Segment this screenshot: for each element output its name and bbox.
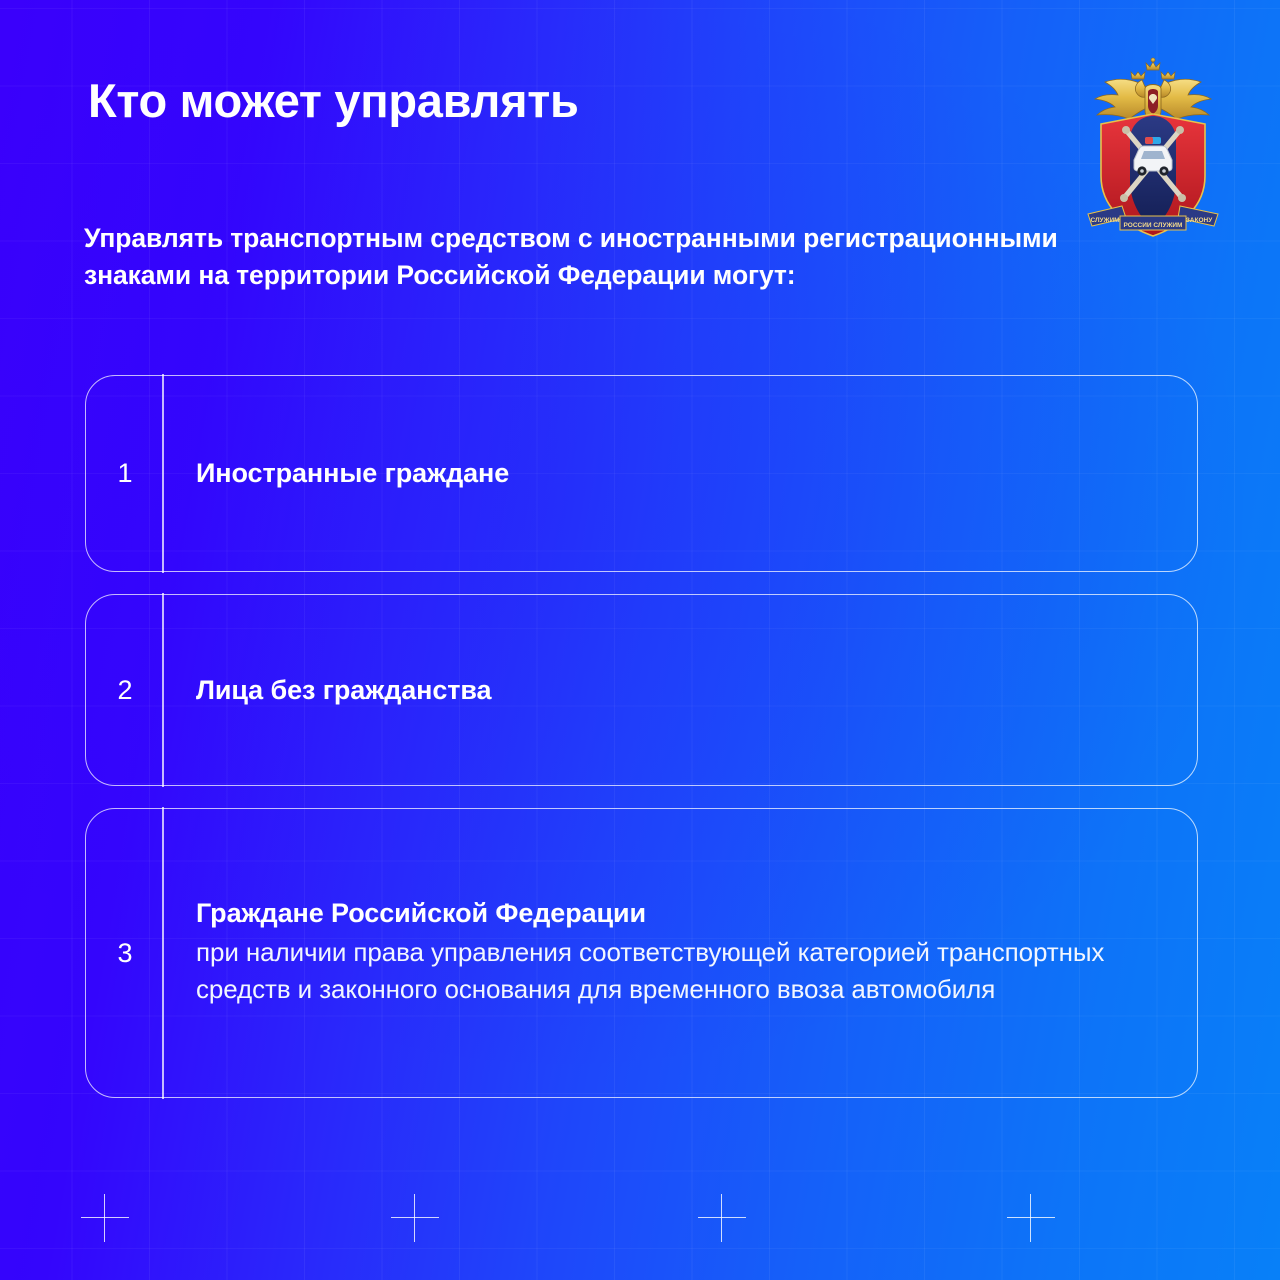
card-number-cell-2: 2	[86, 595, 164, 785]
motto-center: РОССИИ СЛУЖИМ	[1124, 222, 1183, 229]
plus-mark-horizontal	[1007, 1217, 1055, 1218]
plus-mark-vertical	[104, 1194, 105, 1242]
plus-mark-4	[1007, 1194, 1055, 1242]
card-description-3: при наличии права управления соответству…	[196, 934, 1163, 1010]
gibdd-emblem: СЛУЖИМ РОССИИ СЛУЖИМ ЗАКОНУ	[1082, 56, 1224, 242]
plus-mark-vertical	[721, 1194, 722, 1242]
card-body-2: Лица без гражданства	[164, 595, 1197, 785]
motto-right: ЗАКОНУ	[1186, 217, 1213, 224]
plus-mark-horizontal	[81, 1217, 129, 1218]
eagle-crowns	[1131, 58, 1175, 79]
plus-mark-vertical	[1030, 1194, 1031, 1242]
card-title-1: Иностранные граждане	[196, 457, 1163, 490]
list-item-3[interactable]: 3 Граждане Российской Федерации при нали…	[85, 808, 1198, 1098]
card-title-2: Лица без гражданства	[196, 674, 1163, 707]
card-body-1: Иностранные граждане	[164, 376, 1197, 571]
card-number-cell-3: 3	[86, 809, 164, 1097]
motto-left: СЛУЖИМ	[1090, 217, 1119, 224]
plus-mark-vertical	[414, 1194, 415, 1242]
plus-mark-1	[81, 1194, 129, 1242]
intro-paragraph: Управлять транспортным средством с иност…	[84, 220, 1094, 294]
card-number-1: 1	[117, 458, 132, 489]
card-title-3: Граждане Российской Федерации	[196, 897, 1163, 930]
plus-mark-horizontal	[698, 1217, 746, 1218]
card-number-3: 3	[117, 938, 132, 969]
list-item-1[interactable]: 1 Иностранные граждане	[85, 375, 1198, 572]
plus-mark-horizontal	[391, 1217, 439, 1218]
slide-root: Кто может управлять	[0, 0, 1280, 1280]
card-number-2: 2	[117, 675, 132, 706]
list-item-2[interactable]: 2 Лица без гражданства	[85, 594, 1198, 786]
card-number-cell-1: 1	[86, 376, 164, 571]
plus-mark-2	[391, 1194, 439, 1242]
page-title: Кто может управлять	[88, 76, 579, 125]
card-body-3: Граждане Российской Федерации при наличи…	[164, 809, 1197, 1097]
plus-mark-3	[698, 1194, 746, 1242]
card-list: 1 Иностранные граждане 2 Лица без гражда…	[85, 375, 1198, 1098]
